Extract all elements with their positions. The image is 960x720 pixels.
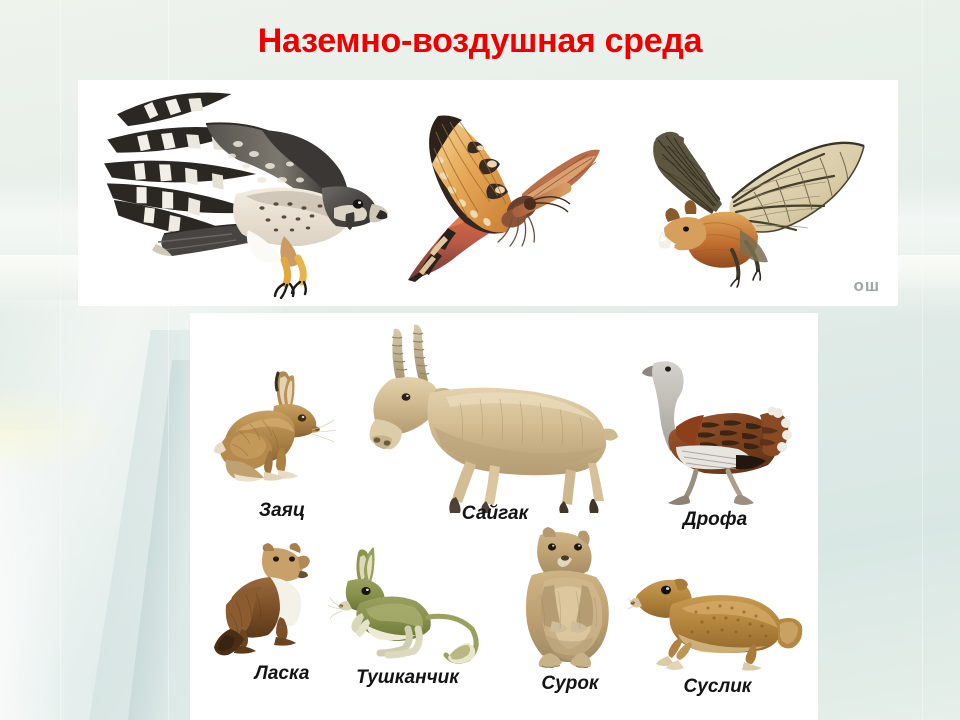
souslik-caption: Суслик [630,676,805,698]
jerboa-caption: Тушканчик [330,667,485,689]
hare-figure: Заяц [212,368,352,498]
air-organisms-panel: ош [78,80,898,306]
marmot-caption: Сурок [510,673,630,695]
falcon-figure [86,84,386,299]
background-vline-1 [60,0,61,720]
marmot-figure: Сурок [510,525,630,670]
saiga-figure: Сайгак [350,323,640,513]
page-title: Наземно-воздушная среда [0,22,960,61]
background-vline-3 [922,0,923,720]
hare-caption: Заяц [212,500,352,522]
ground-organisms-panel: Заяц [190,313,818,720]
bustard-caption: Дрофа [640,509,790,531]
watermark-text: ош [853,276,880,296]
jerboa-figure: Тушканчик [330,545,485,665]
bustard-figure: Дрофа [640,351,790,506]
souslik-figure: Суслик [630,558,805,673]
saiga-caption: Сайгак [350,503,640,525]
bat-figure [628,102,878,282]
butterfly-figure [394,108,624,288]
